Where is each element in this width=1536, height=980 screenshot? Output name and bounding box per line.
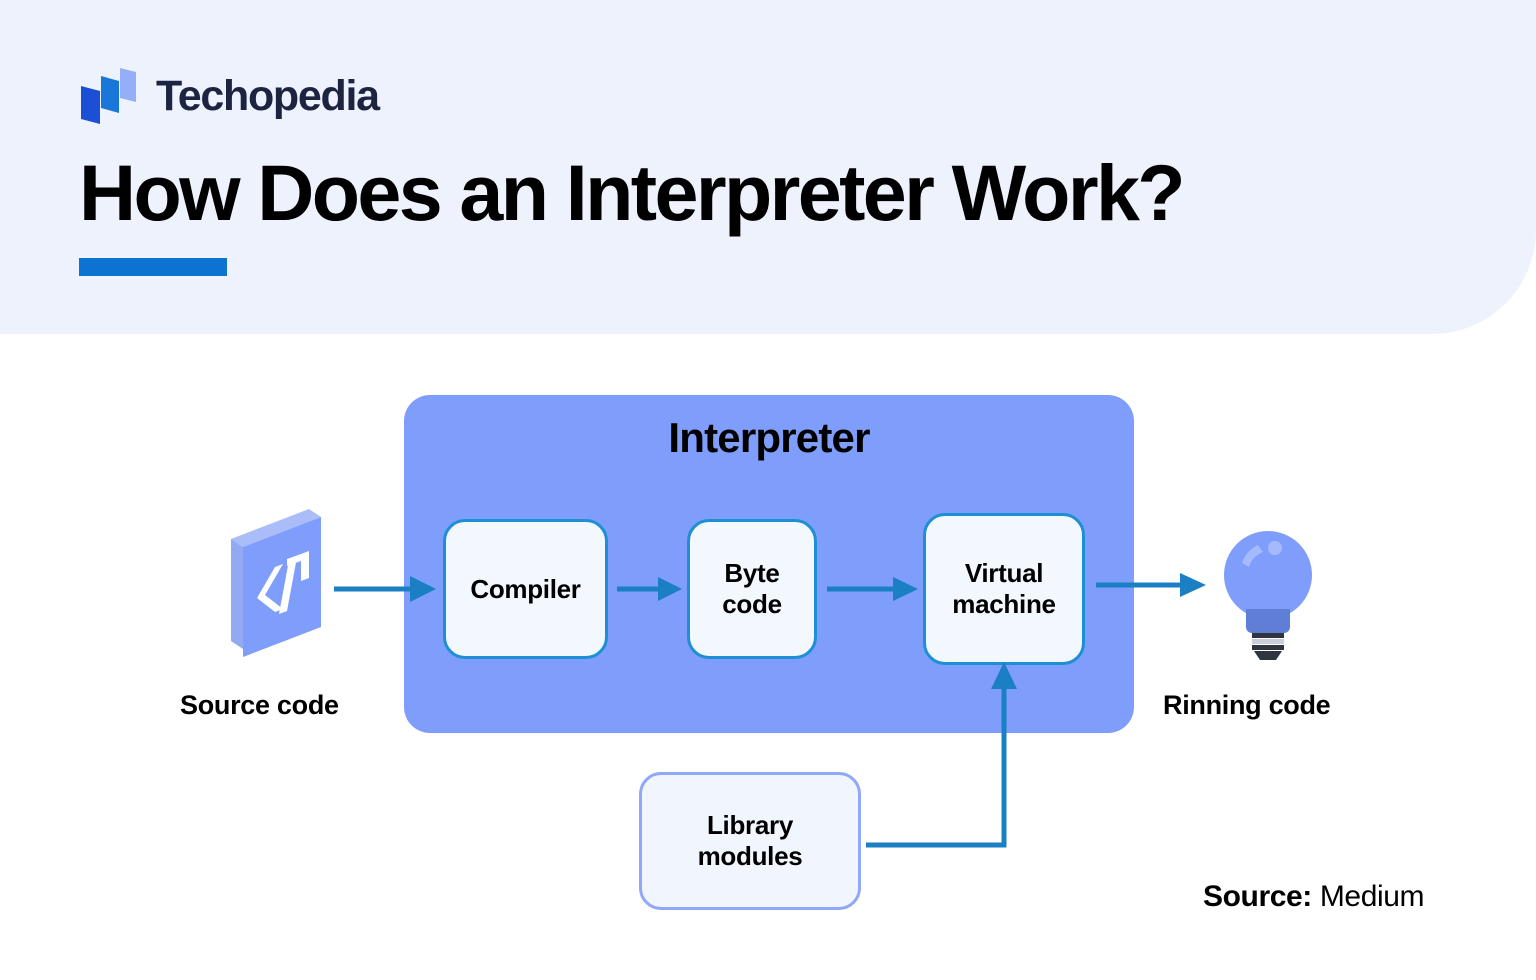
library-line-1: Library: [707, 810, 793, 840]
vm-line-2: machine: [952, 589, 1055, 619]
stage-box-compiler-label: Compiler: [470, 574, 580, 605]
running-code-caption: Rinning code: [1163, 690, 1330, 721]
vm-line-1: Virtual: [965, 558, 1043, 588]
stage-box-compiler: Compiler: [443, 519, 608, 659]
bytecode-line-1: Byte: [724, 558, 779, 588]
interpreter-panel-label: Interpreter: [404, 414, 1134, 462]
source-attribution: Source: Medium: [1203, 880, 1424, 914]
source-code-caption: Source code: [180, 690, 339, 721]
source-value: Medium: [1320, 880, 1424, 913]
library-line-2: modules: [698, 841, 803, 871]
stage-box-bytecode: Byte code: [687, 519, 817, 659]
library-modules-box: Library modules: [639, 772, 861, 910]
source-label: Source:: [1203, 880, 1312, 913]
infographic-page: Techopedia How Does an Interpreter Work?…: [0, 0, 1536, 980]
lightbulb-icon: [1218, 523, 1318, 665]
stage-box-virtual-machine: Virtual machine: [923, 513, 1085, 665]
diagram-stage: Interpreter Source code Compiler Byte co…: [0, 0, 1536, 980]
library-modules-label: Library modules: [698, 810, 803, 871]
bytecode-line-2: code: [722, 589, 781, 619]
stage-box-bytecode-label: Byte code: [722, 558, 781, 619]
source-code-icon: [215, 503, 333, 678]
stage-box-virtual-machine-label: Virtual machine: [952, 558, 1055, 619]
